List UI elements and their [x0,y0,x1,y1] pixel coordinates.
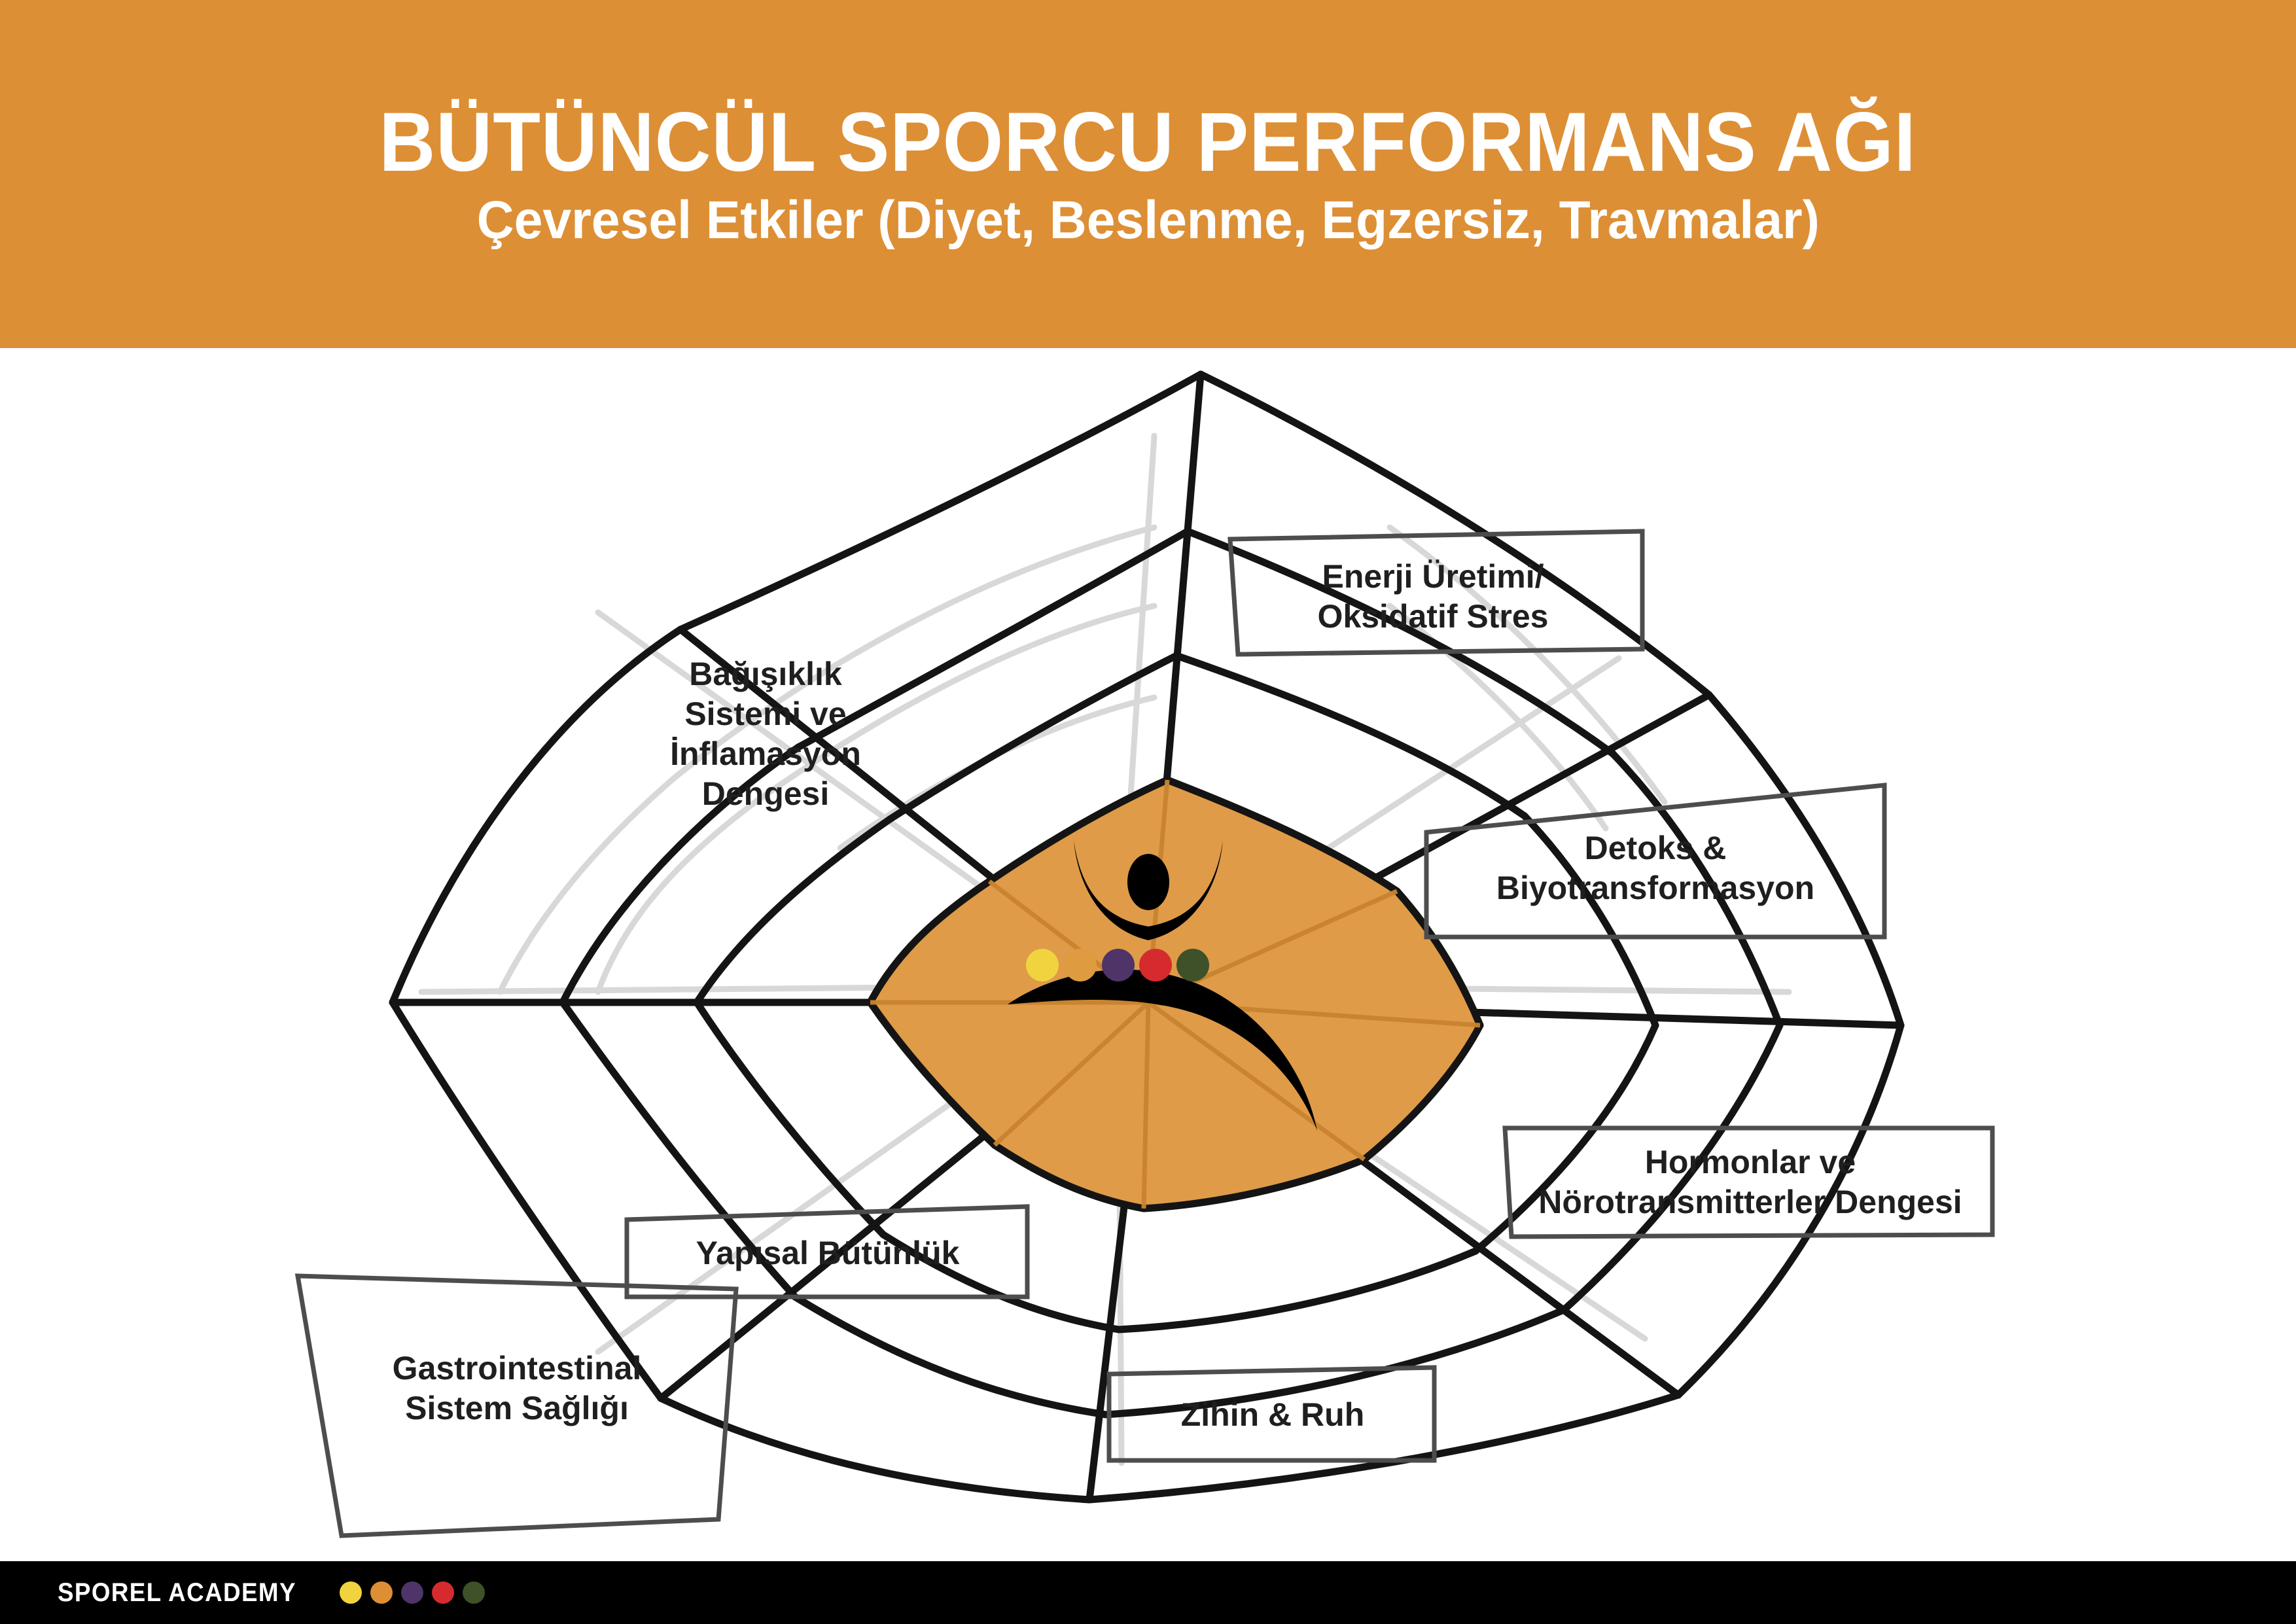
footer-dot-purple [401,1581,423,1604]
label-hormonlar-norotransmitterler[interactable]: Hormonlar ve Nörotransmitterler Dengesi [1511,1128,1989,1237]
label-line: Dengesi [702,775,830,812]
label-line: Gastrointestinal [393,1350,642,1386]
logo-dot-orange [1064,949,1097,981]
logo-dot-purple [1102,949,1135,981]
page-title: BÜTÜNCÜL SPORCU PERFORMANS AĞI [380,101,1916,185]
label-enerji-uretimi-oksidatif-stres[interactable]: Enerji Üretimi/ Oksidatif Stres [1243,539,1623,654]
label-line: İnflamasyon [670,735,861,772]
logo-dot-yellow [1026,949,1059,981]
logo-dot-green [1176,949,1209,981]
footer-dot-group [340,1581,485,1604]
label-gastrointestinal-sistem-sagligi[interactable]: Gastrointestinal Sistem Sağlığı [308,1310,726,1467]
label-line: Sistemi ve [684,696,846,732]
page-footer: SPOREL ACADEMY [0,1561,2296,1624]
label-line: Biyotransformasyon [1496,870,1814,906]
label-line: Sistem Sağlığı [405,1390,629,1426]
label-line: Enerji Üretimi/ [1322,558,1544,595]
page-subtitle: Çevresel Etkiler (Diyet, Beslenme, Egzer… [476,194,1819,247]
footer-dot-yellow [340,1581,362,1604]
label-yapisal-butunluk[interactable]: Yapısal Bütünlük [629,1209,1026,1297]
logo-dot-red [1139,949,1172,981]
label-detoks-biyotransformasyon[interactable]: Detoks & Biyotransformasyon [1439,800,1871,937]
label-zihin-ruh[interactable]: Zihin & Ruh [1112,1369,1433,1460]
label-line: Nörotransmitterler Dengesi [1538,1184,1962,1220]
footer-dot-green [463,1581,485,1604]
footer-dot-red [432,1581,454,1604]
label-line: Hormonlar ve [1645,1144,1856,1180]
footer-brand-name: SPOREL ACADEMY [58,1578,296,1608]
label-line: Zihin & Ruh [1181,1396,1365,1433]
footer-dot-orange [370,1581,393,1604]
diagram-canvas: Enerji Üretimi/ Oksidatif Stres Detoks &… [0,348,2296,1561]
label-line: Detoks & [1585,830,1727,866]
label-line: Yapısal Bütünlük [696,1235,960,1271]
label-line: Oksidatif Stres [1318,598,1549,635]
page-header: BÜTÜNCÜL SPORCU PERFORMANS AĞI Çevresel … [0,0,2296,348]
label-bagisiklik-sistemi-inflamasyon[interactable]: Bağışıklık Sistemi ve İnflamasyon Denges… [622,643,910,826]
label-line: Bağışıklık [689,656,841,692]
